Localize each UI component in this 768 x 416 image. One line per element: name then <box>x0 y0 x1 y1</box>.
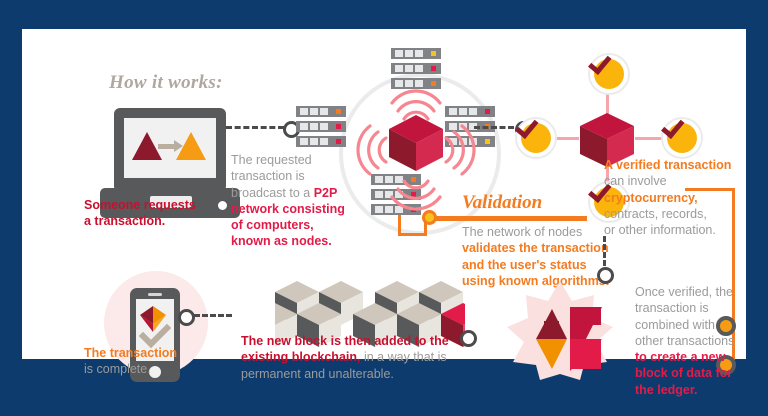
connector-dash-1 <box>226 126 284 129</box>
infographic-card: How it works: Someone requests a transac… <box>22 29 746 359</box>
server-rack-icon-left <box>296 106 346 147</box>
connector-dash-4 <box>194 314 232 317</box>
validation-title: Validation <box>462 191 542 216</box>
page-title: How it works: <box>109 71 223 96</box>
connector-dash-3 <box>603 236 606 266</box>
request-label-2: a transaction. <box>84 213 165 229</box>
phone-speaker <box>148 293 162 296</box>
triangle-receiver-icon <box>176 132 206 160</box>
newblock-text: The new block is then added to the exist… <box>241 333 471 382</box>
server-rack-icon-top <box>391 48 441 89</box>
cube-icon-center <box>389 115 443 173</box>
infographic-stage: How it works: Someone requests a transac… <box>0 0 768 416</box>
transfer-arrow-icon <box>158 144 175 149</box>
starburst-icon <box>506 279 614 383</box>
request-label-1: Someone requests <box>84 197 196 213</box>
broadcast-text: The requested transaction is broadcast t… <box>231 152 351 250</box>
connector-ring-icon-5 <box>178 309 195 326</box>
validation-connector-h <box>398 233 426 236</box>
checkmark-icon-right <box>661 117 703 159</box>
laptop-corner-dot <box>218 201 227 210</box>
connector-dash-2 <box>474 126 514 129</box>
verified-text: A verified transaction can involve crypt… <box>604 157 739 238</box>
complete-text: The transaction is complete. <box>84 345 177 378</box>
checkmark-icon-top <box>588 53 630 95</box>
combine-text: Once verified, the transaction is combin… <box>635 284 745 398</box>
validation-underline <box>462 216 587 221</box>
checkmark-icon-left <box>515 117 557 159</box>
orange-track-top <box>685 188 735 191</box>
validation-knob-icon <box>422 210 437 225</box>
